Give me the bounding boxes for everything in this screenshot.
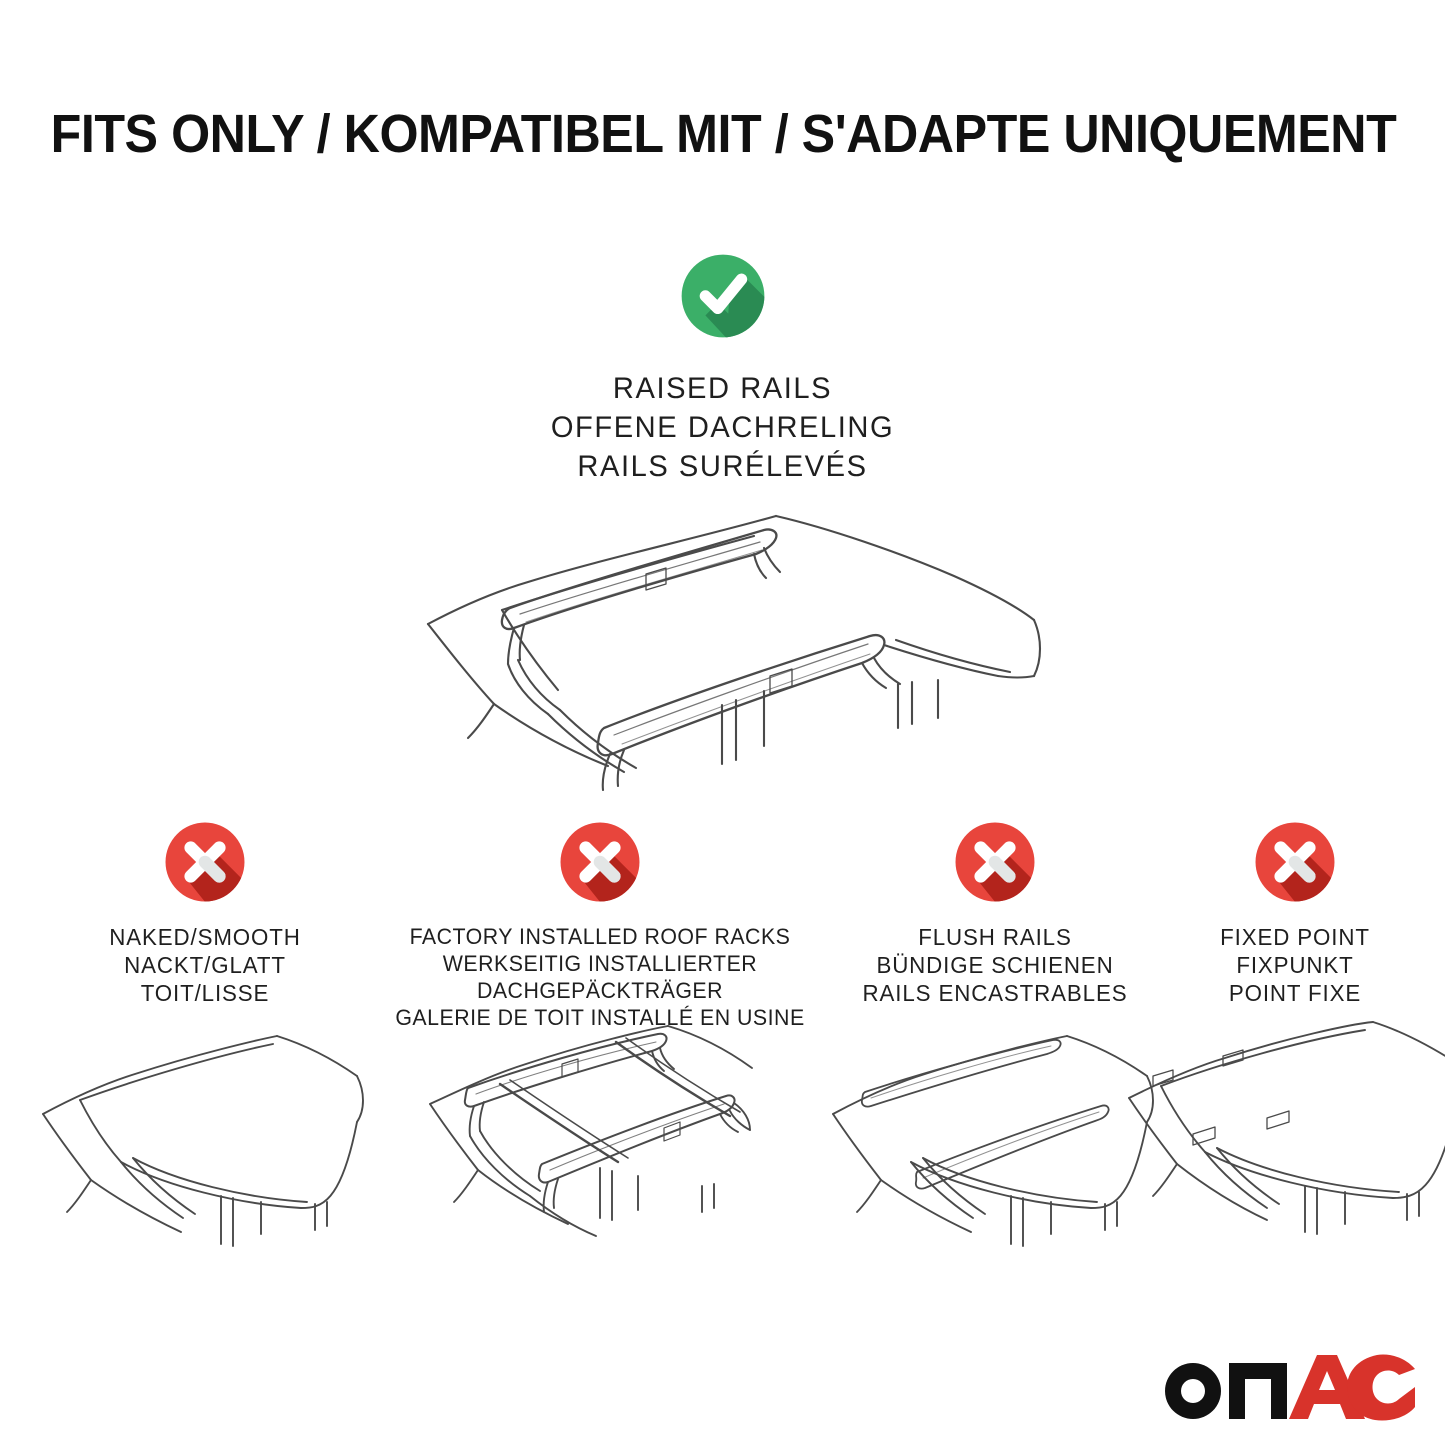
car-roof-naked-smooth-illustration [25, 1018, 385, 1253]
logo-letter-m [1229, 1363, 1287, 1419]
label-fr: TOIT/LISSE [55, 979, 356, 1007]
label-de: FIXPUNKT [1159, 951, 1431, 979]
label-de: BÜNDIGE SCHIENEN [840, 951, 1150, 979]
car-roof-raised-rails-illustration [398, 492, 1058, 792]
incompatible-item-naked-smooth: NAKED/SMOOTH NACKT/GLATT TOIT/LISSE [50, 820, 360, 1007]
label-en: NAKED/SMOOTH [55, 923, 356, 951]
label-fr: POINT FIXE [1159, 979, 1431, 1007]
x-circle-icon [953, 820, 1037, 904]
label-de-2: DACHGEPÄCKTRÄGER [377, 977, 823, 1004]
omac-logo [1159, 1351, 1419, 1423]
incompatible-labels-factory-rack: FACTORY INSTALLED ROOF RACKS WERKSEITIG … [377, 923, 823, 1031]
x-circle-icon [163, 820, 247, 904]
incompatible-labels-flush-rails: FLUSH RAILS BÜNDIGE SCHIENEN RAILS ENCAS… [840, 923, 1150, 1007]
logo-letter-o [1165, 1363, 1221, 1419]
label-en: FIXED POINT [1159, 923, 1431, 951]
label-fr: RAILS ENCASTRABLES [840, 979, 1150, 1007]
incompatible-labels-fixed-point: FIXED POINT FIXPUNKT POINT FIXE [1159, 923, 1431, 1007]
x-circle-icon [558, 820, 642, 904]
label-de-1: WERKSEITIG INSTALLIERTER [377, 950, 823, 977]
incompatible-item-factory-rack: FACTORY INSTALLED ROOF RACKS WERKSEITIG … [370, 820, 830, 1031]
check-circle-icon [679, 252, 767, 340]
page-title: FITS ONLY / KOMPATIBEL MIT / S'ADAPTE UN… [0, 104, 1445, 164]
car-roof-fixed-point-illustration [1115, 1016, 1445, 1251]
page-title-text: FITS ONLY / KOMPATIBEL MIT / S'ADAPTE UN… [51, 104, 1397, 164]
compatible-label-fr: RAILS SURÉLEVÉS [22, 447, 1424, 486]
incompatible-labels-naked-smooth: NAKED/SMOOTH NACKT/GLATT TOIT/LISSE [55, 923, 356, 1007]
compatible-section: RAISED RAILS OFFENE DACHRELING RAILS SUR… [0, 252, 1445, 486]
logo-letter-c [1347, 1355, 1415, 1421]
label-de: NACKT/GLATT [55, 951, 356, 979]
car-roof-factory-rack-illustration [420, 1016, 780, 1251]
label-en: FLUSH RAILS [840, 923, 1150, 951]
compatible-label-de: OFFENE DACHRELING [22, 408, 1424, 447]
compatible-labels: RAISED RAILS OFFENE DACHRELING RAILS SUR… [22, 369, 1424, 486]
x-circle-icon [1253, 820, 1337, 904]
incompatible-item-fixed-point: FIXED POINT FIXPUNKT POINT FIXE [1155, 820, 1435, 1007]
compatible-label-en: RAISED RAILS [22, 369, 1424, 408]
label-en: FACTORY INSTALLED ROOF RACKS [377, 923, 823, 950]
incompatible-item-flush-rails: FLUSH RAILS BÜNDIGE SCHIENEN RAILS ENCAS… [835, 820, 1155, 1007]
incompatible-section: NAKED/SMOOTH NACKT/GLATT TOIT/LISSE [0, 820, 1445, 1290]
